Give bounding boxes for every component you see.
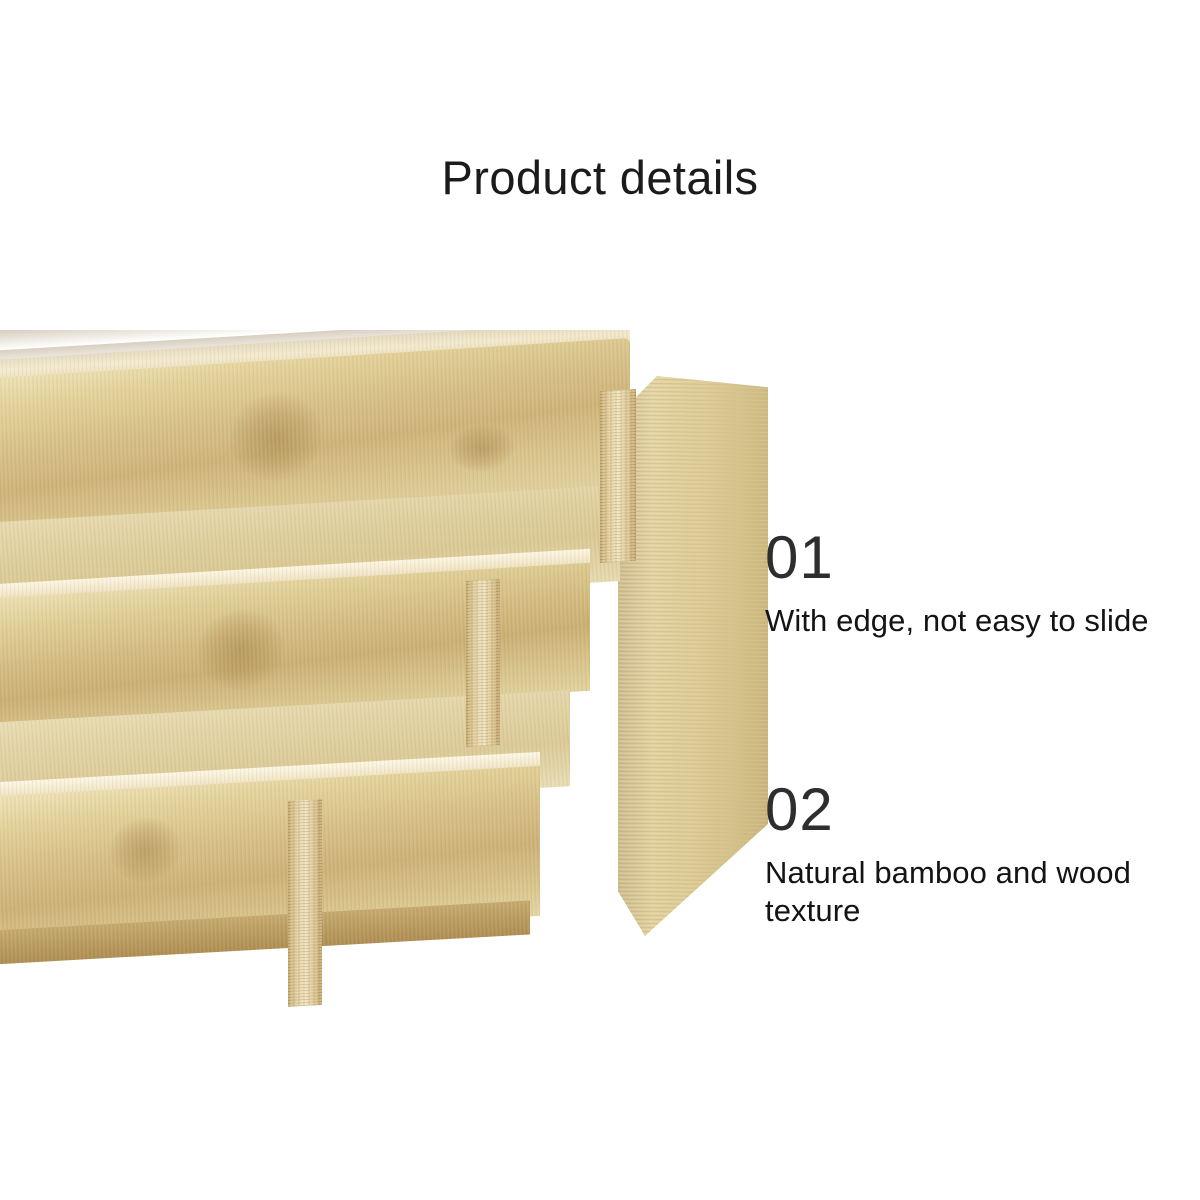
tier1-corner-post xyxy=(600,389,636,563)
bamboo-node-knot xyxy=(198,607,284,692)
callout-01: 01 With edge, not easy to slide xyxy=(765,528,1185,640)
page-title: Product details xyxy=(0,152,1200,204)
bamboo-node-knot xyxy=(110,816,180,884)
bamboo-node-knot xyxy=(450,423,514,473)
callout-01-text: With edge, not easy to slide xyxy=(765,602,1185,640)
bamboo-node-knot xyxy=(230,391,322,483)
product-photo xyxy=(0,330,770,1090)
shelf-side-panel xyxy=(618,376,768,936)
callout-02-number: 02 xyxy=(765,780,1185,840)
product-details-page: Product details xyxy=(0,0,1200,1200)
tier2-corner-post xyxy=(466,579,500,747)
callout-02-text: Natural bamboo and wood texture xyxy=(765,854,1185,930)
tier3-corner-post xyxy=(288,799,322,1007)
callout-02: 02 Natural bamboo and wood texture xyxy=(765,780,1185,930)
callout-01-number: 01 xyxy=(765,528,1185,588)
